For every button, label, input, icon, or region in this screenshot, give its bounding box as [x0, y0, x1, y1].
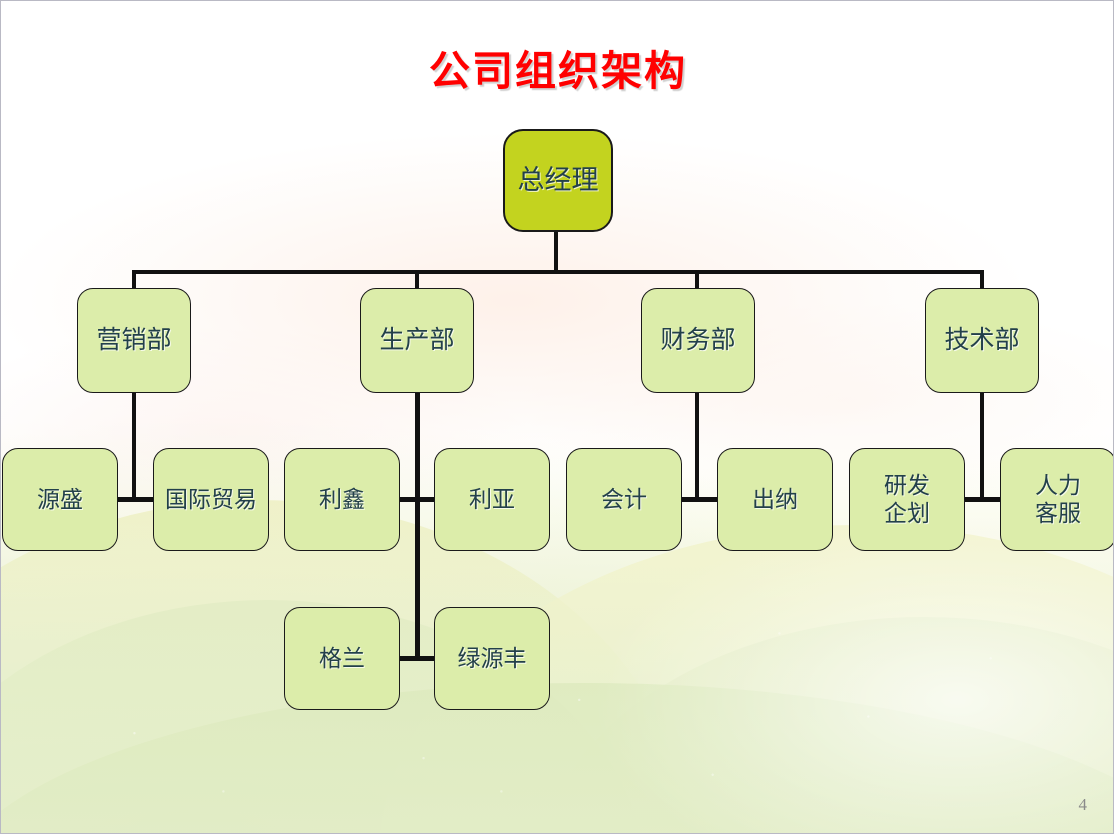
org-node-label: 出纳 [752, 486, 798, 513]
org-node-label-line1: 研发 [884, 472, 930, 499]
org-node-finance-department[interactable]: 财务部 [641, 288, 755, 393]
connector-fin-spine [695, 392, 699, 499]
connector-root-stem [554, 231, 558, 273]
org-node-technology-department[interactable]: 技术部 [925, 288, 1039, 393]
connector-tech-crossbar [963, 497, 1002, 502]
org-node-luyuanfeng[interactable]: 绿源丰 [434, 607, 550, 710]
connector-fin-crossbar [679, 497, 718, 502]
org-node-label: 源盛 [37, 486, 83, 513]
org-node-label: 营销部 [96, 326, 171, 356]
org-node-label: 技术部 [944, 326, 1019, 356]
org-node-liya[interactable]: 利亚 [434, 448, 550, 551]
org-node-accounting[interactable]: 会计 [566, 448, 682, 551]
org-node-label-line2: 客服 [1035, 500, 1081, 527]
connector-sales-crossbar [116, 497, 155, 502]
connector-prod-spine [415, 392, 420, 660]
org-node-general-manager[interactable]: 总经理 [503, 129, 613, 232]
org-node-cashier[interactable]: 出纳 [717, 448, 833, 551]
page-number: 4 [1079, 795, 1088, 815]
org-node-sales-department[interactable]: 营销部 [77, 288, 191, 393]
org-node-yuansheng[interactable]: 源盛 [2, 448, 118, 551]
org-node-production-department[interactable]: 生产部 [360, 288, 474, 393]
org-chart: 总经理 营销部 生产部 财务部 技术部 源盛 国际贸易 利鑫 利亚 格兰 [1, 1, 1113, 833]
org-node-label-line1: 人力 [1035, 472, 1081, 499]
connector-drop-fin [695, 270, 699, 290]
org-node-label: 会计 [601, 486, 647, 513]
org-node-gelan[interactable]: 格兰 [284, 607, 400, 710]
connector-sales-spine [132, 392, 136, 499]
org-node-label: 绿源丰 [458, 645, 527, 672]
connector-prod-crossbar-2 [397, 656, 437, 661]
org-node-label: 格兰 [319, 645, 365, 672]
connector-tech-spine [980, 392, 984, 499]
org-node-label: 生产部 [379, 326, 454, 356]
org-node-label: 国际贸易 [165, 486, 257, 513]
connector-drop-sales [132, 270, 136, 290]
connector-level1-bus [132, 270, 984, 274]
slide-canvas: 公司组织架构 总经理 营销部 生 [0, 0, 1114, 834]
org-node-label-line2: 企划 [884, 500, 930, 527]
connector-prod-crossbar-1 [397, 497, 437, 502]
org-node-label: 利鑫 [319, 486, 365, 513]
org-node-international-trade[interactable]: 国际贸易 [153, 448, 269, 551]
org-node-label: 总经理 [518, 165, 599, 197]
org-node-label: 利亚 [469, 486, 515, 513]
connector-drop-tech [980, 270, 984, 290]
org-node-lixin[interactable]: 利鑫 [284, 448, 400, 551]
connector-drop-prod [415, 270, 419, 290]
org-node-label: 财务部 [660, 326, 735, 356]
org-node-rnd-planning[interactable]: 研发 企划 [849, 448, 965, 551]
org-node-hr-customer-service[interactable]: 人力 客服 [1000, 448, 1114, 551]
